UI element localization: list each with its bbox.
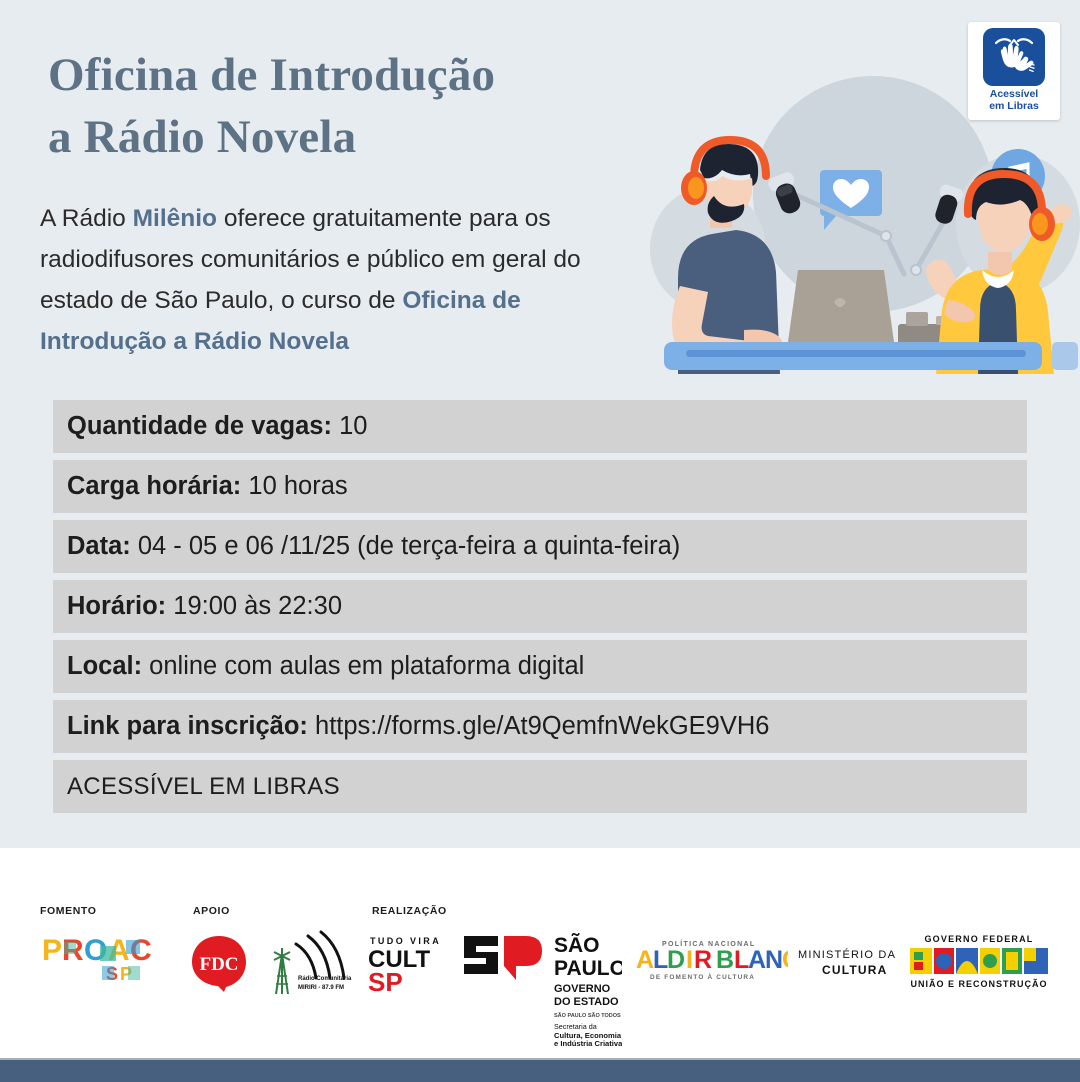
svg-text:R: R	[694, 946, 712, 974]
svg-text:e Indústria Criativas: e Indústria Criativas	[554, 1039, 622, 1046]
aldir-blanc-logo: POLÍTICA NACIONAL A L D I R B L A N C DE…	[636, 936, 788, 982]
svg-text:C: C	[782, 946, 788, 974]
svg-text:B: B	[716, 946, 734, 974]
row-label: Local:	[67, 652, 142, 680]
poster-root: Oficina de Introdução a Rádio Novela A R…	[0, 0, 1080, 1080]
table-row: Local: online com aulas em plataforma di…	[53, 640, 1027, 693]
svg-text:CULTURA: CULTURA	[822, 963, 888, 977]
svg-text:MINISTÉRIO DA: MINISTÉRIO DA	[798, 948, 896, 961]
svg-text:A: A	[636, 946, 654, 974]
svg-text:N: N	[765, 946, 783, 974]
title-line-2: a Rádio Novela	[48, 106, 688, 168]
table-row-registration-link[interactable]: Link para inscrição: https://forms.gle/A…	[53, 700, 1027, 753]
row-label: Carga horária:	[67, 472, 241, 500]
lead-part-1: A Rádio	[40, 205, 133, 232]
page-title: Oficina de Introdução a Rádio Novela	[48, 44, 688, 168]
cult-sp-logo: TUDO VIRA CULT SP	[368, 934, 450, 996]
footer-heading-apoio: APOIO	[193, 905, 230, 917]
svg-text:L: L	[653, 946, 668, 974]
svg-text:SP: SP	[368, 967, 403, 996]
svg-text:GOVERNO FEDERAL: GOVERNO FEDERAL	[924, 934, 1033, 944]
svg-text:I: I	[686, 946, 693, 974]
title-line-1: Oficina de Introdução	[48, 49, 495, 101]
accessibility-note: ACESSÍVEL EM LIBRAS	[67, 773, 340, 801]
sao-paulo-government-logo: SÃO PAULO GOVERNO DO ESTADO SÃO PAULO SÃ…	[462, 930, 622, 1046]
svg-text:TUDO VIRA: TUDO VIRA	[370, 936, 441, 946]
svg-text:PAULO: PAULO	[554, 957, 622, 980]
table-row: Data: 04 - 05 e 06 /11/25 (de terça-feir…	[53, 520, 1027, 573]
svg-text:A: A	[748, 946, 766, 974]
bottom-bar	[0, 1058, 1080, 1082]
row-value: 10 horas	[241, 472, 347, 500]
table-row-accessibility: ACESSÍVEL EM LIBRAS	[53, 760, 1027, 813]
row-value: 10	[332, 412, 367, 440]
svg-text:UNIÃO E RECONSTRUÇÃO: UNIÃO E RECONSTRUÇÃO	[910, 979, 1047, 989]
row-label: Data:	[67, 532, 131, 560]
svg-text:Rádio Comunitária: Rádio Comunitária	[298, 976, 352, 982]
main-panel: Oficina de Introdução a Rádio Novela A R…	[0, 0, 1080, 848]
svg-text:MIRIRI - 87.9 FM: MIRIRI - 87.9 FM	[298, 985, 344, 991]
sponsor-footer: FOMENTO P R O A C S P	[0, 848, 1080, 1058]
mixing-desk	[664, 342, 1078, 370]
row-label: Horário:	[67, 592, 166, 620]
footer-heading-fomento: FOMENTO	[40, 905, 97, 917]
svg-text:DO ESTADO: DO ESTADO	[554, 996, 619, 1008]
radio-studio-illustration	[648, 74, 1080, 374]
row-value: 04 - 05 e 06 /11/25 (de terça-feira a qu…	[131, 532, 681, 560]
lead-bold-1: Milênio	[133, 205, 217, 232]
fdc-logo: FDC	[190, 934, 248, 992]
table-row: Carga horária: 10 horas	[53, 460, 1027, 513]
svg-text:DE FOMENTO À CULTURA: DE FOMENTO À CULTURA	[650, 972, 755, 981]
svg-text:FDC: FDC	[199, 954, 238, 975]
male-host	[672, 140, 782, 374]
radio-comunitaria-logo: Rádio Comunitária MIRIRI - 87.9 FM	[258, 930, 358, 1000]
svg-text:D: D	[667, 946, 685, 974]
info-table: Quantidade de vagas: 10 Carga horária: 1…	[53, 400, 1027, 820]
table-row: Quantidade de vagas: 10	[53, 400, 1027, 453]
row-label: Link para inscrição:	[67, 712, 308, 740]
svg-text:L: L	[734, 946, 749, 974]
svg-text:GOVERNO: GOVERNO	[554, 983, 611, 995]
svg-text:Secretaria da: Secretaria da	[554, 1022, 597, 1031]
registration-url[interactable]: https://forms.gle/At9QemfnWekGE9VH6	[308, 712, 770, 740]
footer-heading-realizacao: REALIZAÇÃO	[372, 905, 447, 917]
intro-paragraph: A Rádio Milênio oferece gratuitamente pa…	[40, 198, 648, 362]
svg-text:SÃO: SÃO	[554, 934, 600, 957]
row-value: online com aulas em plataforma digital	[142, 652, 584, 680]
governo-federal-logo: GOVERNO FEDERAL UNIÃO E RECONST	[908, 932, 1050, 990]
svg-text:P: P	[42, 934, 63, 967]
row-value: 19:00 às 22:30	[166, 592, 342, 620]
proac-logo: P R O A C S P	[40, 932, 158, 988]
row-label: Quantidade de vagas:	[67, 412, 332, 440]
svg-text:SÃO PAULO SÃO TODOS: SÃO PAULO SÃO TODOS	[554, 1012, 621, 1019]
ministerio-cultura-logo: MINISTÉRIO DA CULTURA	[798, 946, 896, 980]
table-row: Horário: 19:00 às 22:30	[53, 580, 1027, 633]
